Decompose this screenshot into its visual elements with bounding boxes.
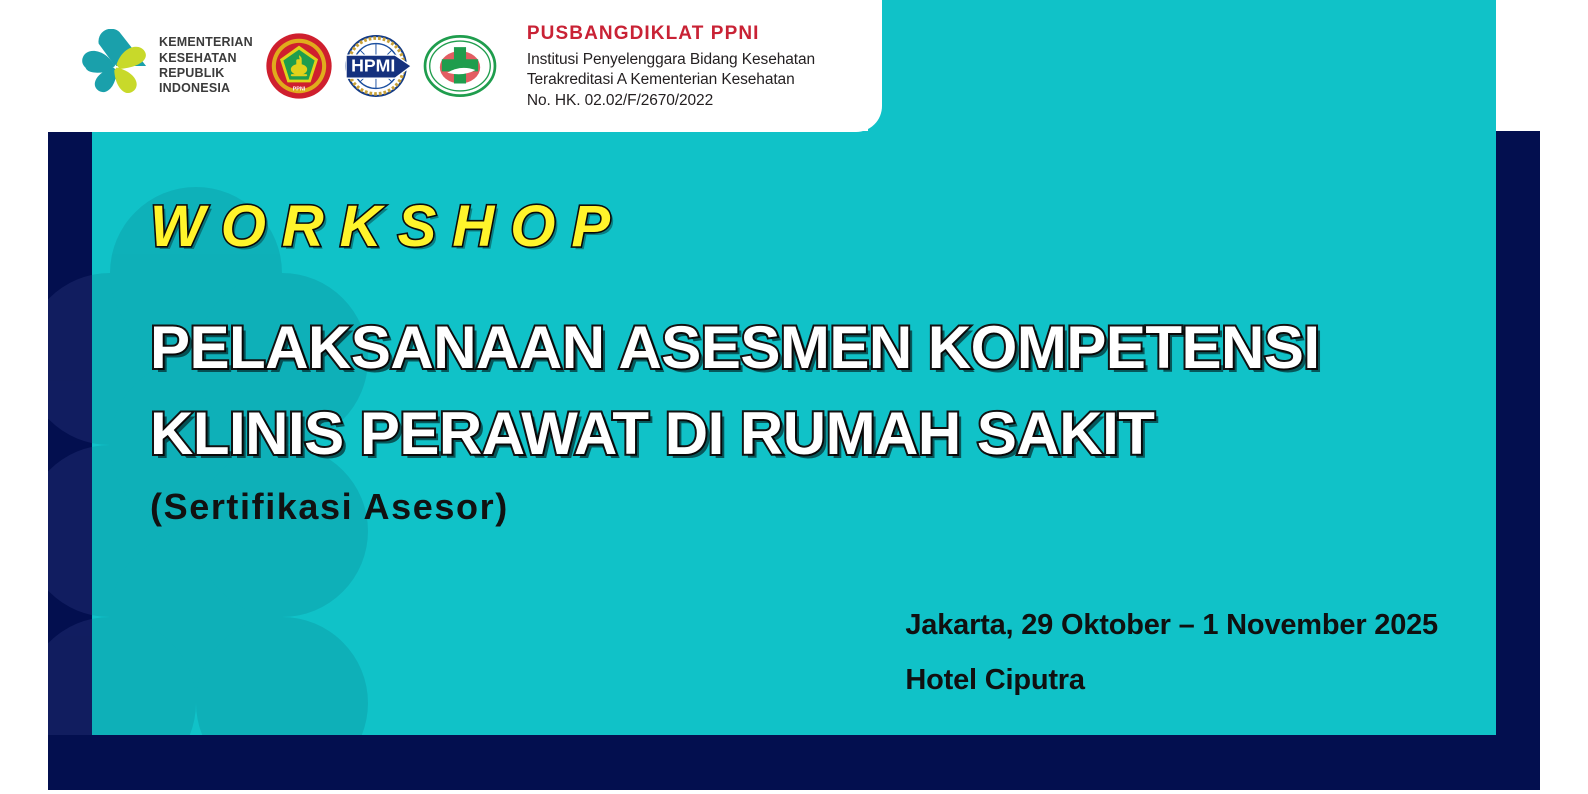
org-title: PUSBANGDIKLAT PPNI: [527, 23, 815, 45]
poster-content: WORKSHOP PELAKSANAAN ASESMEN KOMPETENSI …: [150, 131, 1490, 735]
hpmi-seal-icon: HPMI: [339, 32, 417, 100]
org-line-2: Terakreditasi A Kementerian Kesehatan: [527, 70, 815, 91]
ppni-seal-icon: PPNI: [265, 32, 333, 100]
poster-canvas: KEMENTERIAN KESEHATAN REPUBLIK INDONESIA…: [0, 0, 1588, 794]
event-venue: Hotel Ciputra: [905, 664, 1438, 697]
hpmi-logo-text: HPMI: [351, 55, 395, 75]
kemenkes-logo: KEMENTERIAN KESEHATAN REPUBLIK INDONESIA: [78, 29, 253, 103]
page-title-line-2: KLINIS PERAWAT DI RUMAH SAKIT: [150, 399, 1154, 468]
event-date: Jakarta, 29 Oktober – 1 November 2025: [905, 609, 1438, 642]
green-cross-seal-icon: [423, 32, 497, 100]
logo-row: KEMENTERIAN KESEHATAN REPUBLIK INDONESIA…: [78, 21, 815, 112]
pusbangdiklat-text-block: PUSBANGDIKLAT PPNI Institusi Penyelengga…: [527, 21, 815, 112]
teal-top-right-band: [868, 0, 1496, 133]
org-line-3: No. HK. 02.02/F/2670/2022: [527, 91, 815, 112]
page-subtitle: (Sertifikasi Asesor): [150, 486, 509, 528]
event-details: Jakarta, 29 Oktober – 1 November 2025 Ho…: [905, 609, 1438, 697]
page-title-line-1: PELAKSANAAN ASESMEN KOMPETENSI: [150, 313, 1320, 382]
kemenkes-logo-text: KEMENTERIAN KESEHATAN REPUBLIK INDONESIA: [159, 35, 253, 96]
kemenkes-mark-icon: [78, 29, 152, 103]
eyebrow-workshop: WORKSHOP: [150, 193, 626, 260]
org-line-1: Institusi Penyelenggara Bidang Kesehatan: [527, 50, 815, 71]
header-card: KEMENTERIAN KESEHATAN REPUBLIK INDONESIA…: [48, 0, 882, 132]
svg-text:PPNI: PPNI: [293, 86, 306, 92]
